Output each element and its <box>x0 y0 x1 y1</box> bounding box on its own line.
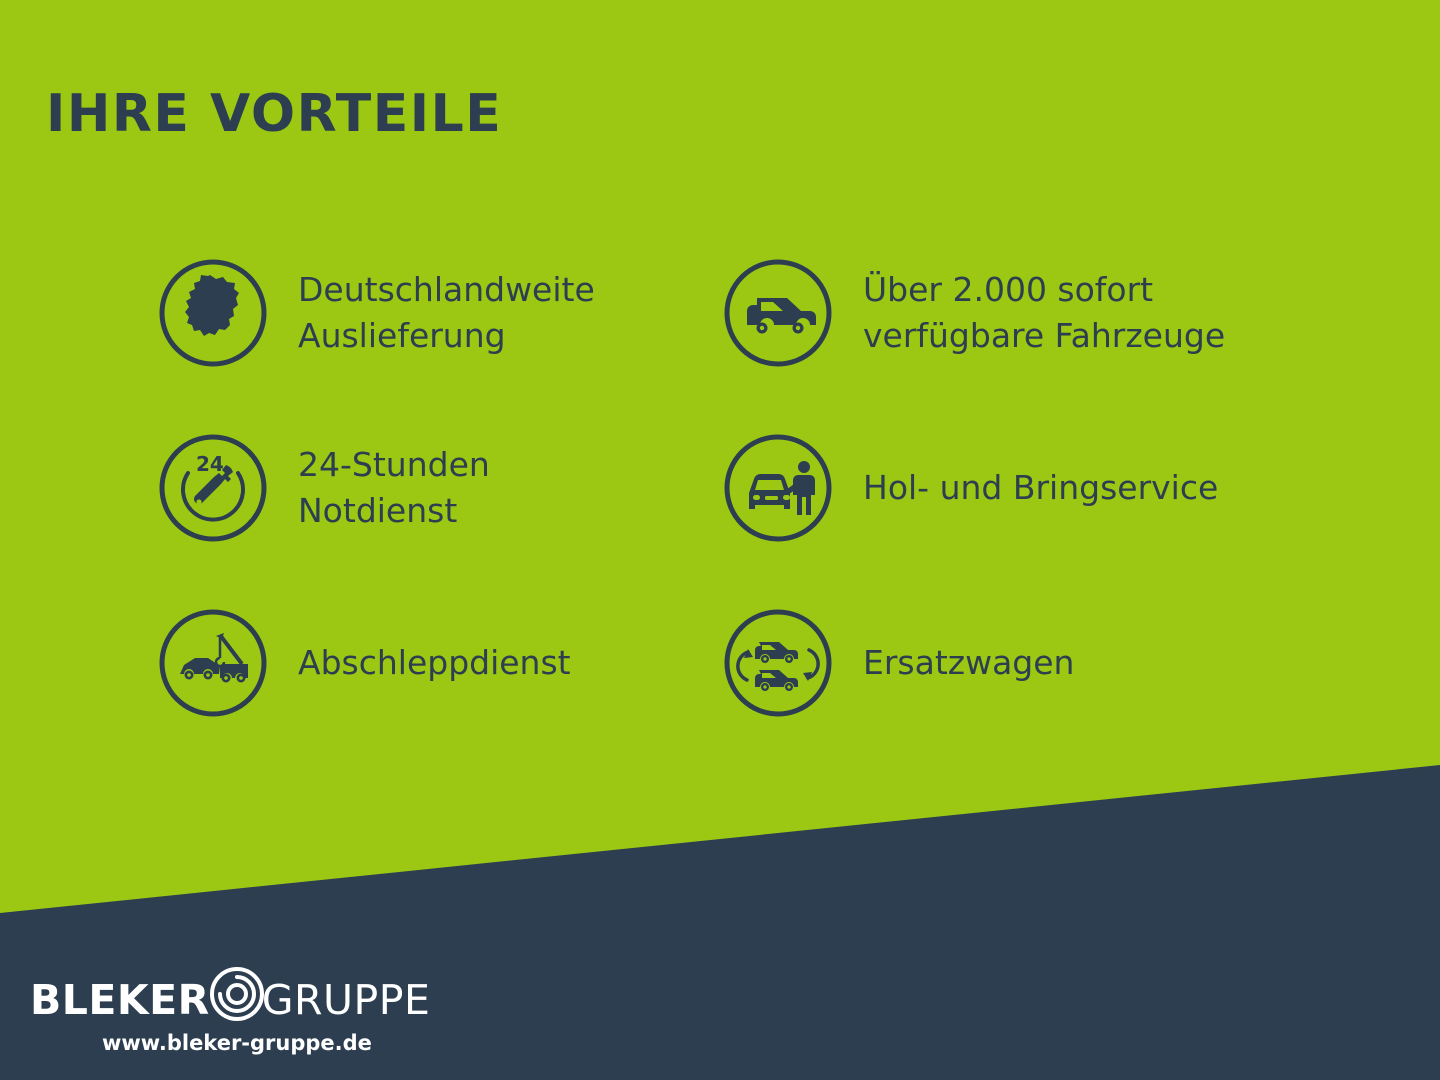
benefit-item-deutschlandweite-auslieferung[interactable]: Deutschlandweite Auslieferung <box>0 225 565 400</box>
benefit-row: Abschleppdienst <box>0 575 1440 750</box>
benefit-row: 24 24-Stunden Notdienst <box>0 400 1440 575</box>
benefit-label: Deutschlandweite Auslieferung <box>298 267 595 358</box>
benefit-label: 24-Stunden Notdienst <box>298 442 490 533</box>
benefit-item-abschleppdienst[interactable]: Abschleppdienst <box>0 575 565 750</box>
benefit-row: Deutschlandweite Auslieferung Über 2.000… <box>0 225 1440 400</box>
slide-canvas: IHRE VORTEILE Deutschlandweite Ausliefer… <box>0 0 1440 1080</box>
benefit-item-hol-und-bringservice[interactable]: Hol- und Bringservice <box>565 400 1440 575</box>
benefit-item-ersatzwagen[interactable]: Ersatzwagen <box>565 575 1440 750</box>
benefit-label: Abschleppdienst <box>298 640 571 686</box>
benefit-label: Ersatzwagen <box>863 640 1074 686</box>
badge-24-text: 24 <box>196 452 224 476</box>
car-side-icon <box>723 258 833 368</box>
germany-map-icon <box>158 258 268 368</box>
benefits-grid: Deutschlandweite Auslieferung Über 2.000… <box>0 225 1440 750</box>
tow-truck-icon <box>158 608 268 718</box>
spiral-circle-icon <box>206 963 268 1025</box>
car-exchange-icon <box>723 608 833 718</box>
benefit-item-verfuegbare-fahrzeuge[interactable]: Über 2.000 sofort verfügbare Fahrzeuge <box>565 225 1440 400</box>
benefit-item-24-stunden-notdienst[interactable]: 24 24-Stunden Notdienst <box>0 400 565 575</box>
logo-url[interactable]: www.bleker-gruppe.de <box>102 1031 430 1055</box>
logo-name-bold: BLEKER <box>30 980 210 1021</box>
page-title: IHRE VORTEILE <box>46 88 502 140</box>
logo-wordmark: BLEKER GRUPPE <box>30 975 430 1025</box>
car-with-person-icon <box>723 433 833 543</box>
benefit-label: Hol- und Bringservice <box>863 465 1218 511</box>
logo-name-regular: GRUPPE <box>262 980 431 1021</box>
24-hour-wrench-icon: 24 <box>158 433 268 543</box>
logo[interactable]: BLEKER GRUPPE www.bleker-gruppe.de <box>30 975 430 1055</box>
benefit-label: Über 2.000 sofort verfügbare Fahrzeuge <box>863 267 1225 358</box>
